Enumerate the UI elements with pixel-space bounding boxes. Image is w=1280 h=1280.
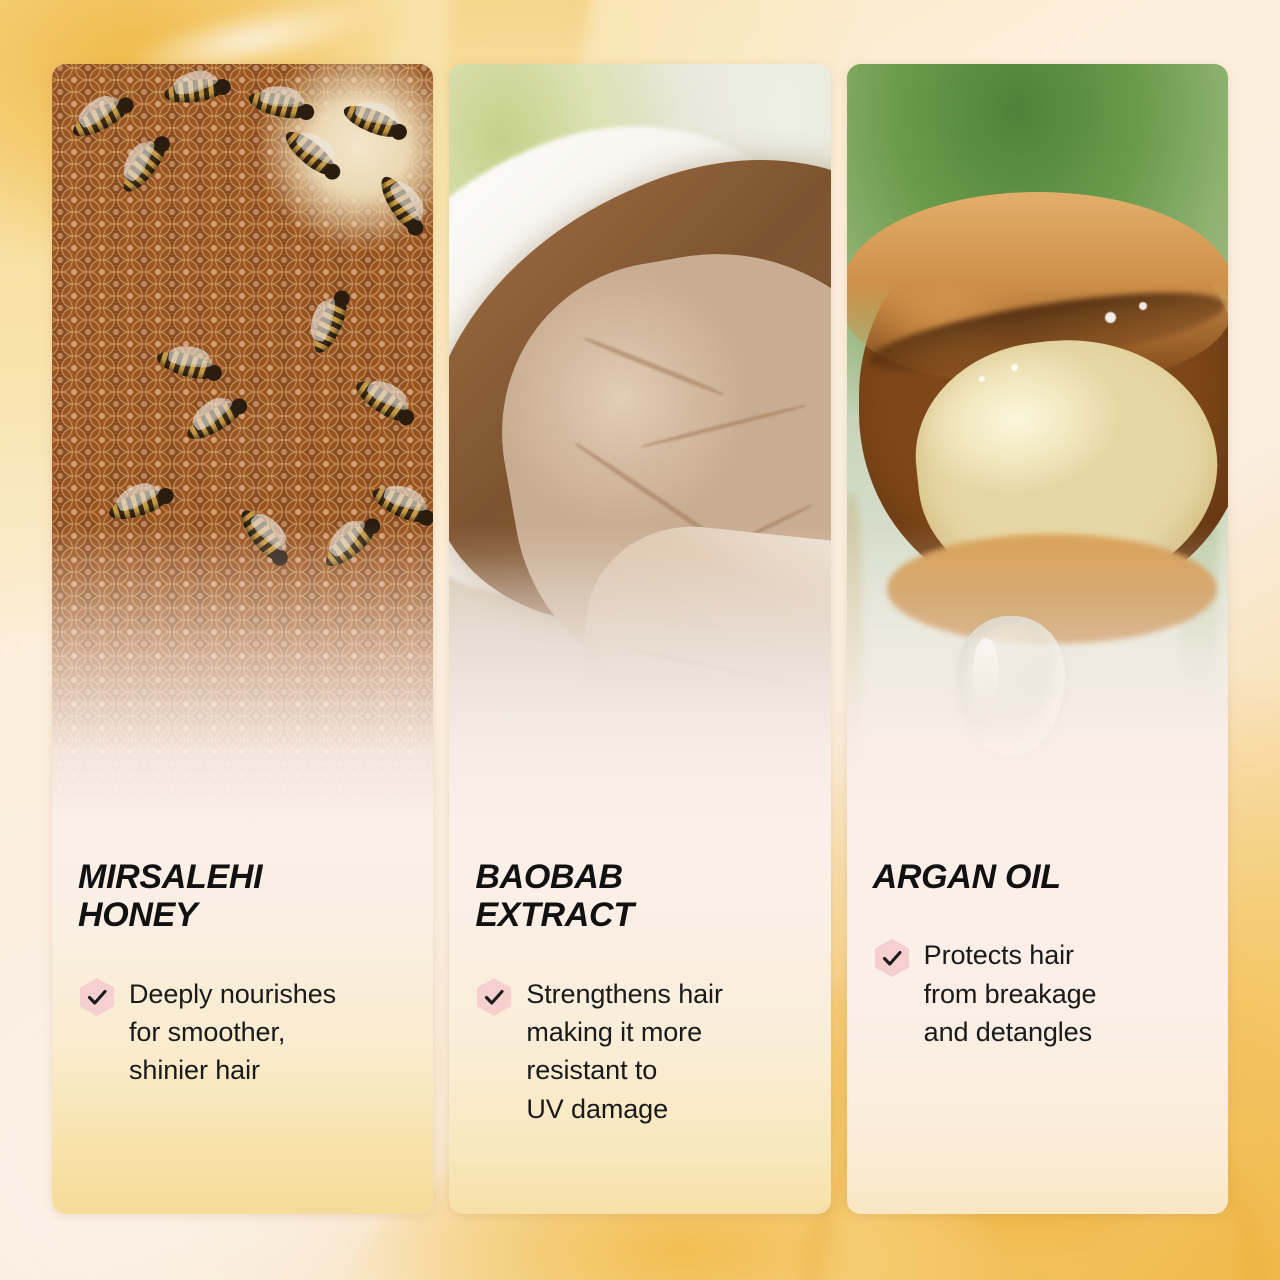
benefit-item: Deeply nourishes for smoother, shinier h…: [78, 975, 407, 1090]
hexagon-check-icon: [475, 977, 513, 1017]
ingredient-card-mirsalehi-honey[interactable]: MIRSALEHI HONEY Deeply nourishes for smo…: [52, 64, 433, 1214]
benefit-item: Protects hair from breakage and detangle…: [873, 936, 1202, 1051]
argan-nut-oil-drop-photo: [847, 64, 1228, 824]
benefit-text: Strengthens hair making it more resistan…: [526, 975, 723, 1128]
ingredient-title: BAOBAB EXTRACT: [475, 858, 804, 935]
hexagon-check-icon: [78, 977, 116, 1017]
oil-glint: [1139, 302, 1147, 310]
card-text-panel: MIRSALEHI HONEY Deeply nourishes for smo…: [52, 824, 433, 1214]
baobab-fruit-photo: [449, 64, 830, 824]
benefit-text: Protects hair from breakage and detangle…: [924, 936, 1097, 1051]
card-text-panel: ARGAN OIL Protects hair from breakage an…: [847, 824, 1228, 1214]
oil-glint: [1105, 312, 1116, 323]
photo-fade-overlay: [449, 524, 830, 824]
photo-fade-overlay: [847, 524, 1228, 824]
oil-glint: [1011, 364, 1018, 371]
ingredient-card-argan-oil[interactable]: ARGAN OIL Protects hair from breakage an…: [847, 64, 1228, 1214]
ingredient-card-row: MIRSALEHI HONEY Deeply nourishes for smo…: [52, 64, 1228, 1214]
ingredient-infographic: MIRSALEHI HONEY Deeply nourishes for smo…: [0, 0, 1280, 1280]
photo-fade-overlay: [52, 524, 433, 824]
hexagon-check-icon: [873, 938, 911, 978]
honeycomb-with-bees-photo: [52, 64, 433, 824]
benefit-text: Deeply nourishes for smoother, shinier h…: [129, 975, 336, 1090]
oil-glint: [979, 376, 985, 382]
benefit-item: Strengthens hair making it more resistan…: [475, 975, 804, 1128]
card-text-panel: BAOBAB EXTRACT Strengthens hair making i…: [449, 824, 830, 1214]
ingredient-title: MIRSALEHI HONEY: [78, 858, 407, 935]
ingredient-title: ARGAN OIL: [873, 858, 1202, 896]
ingredient-card-baobab-extract[interactable]: BAOBAB EXTRACT Strengthens hair making i…: [449, 64, 830, 1214]
